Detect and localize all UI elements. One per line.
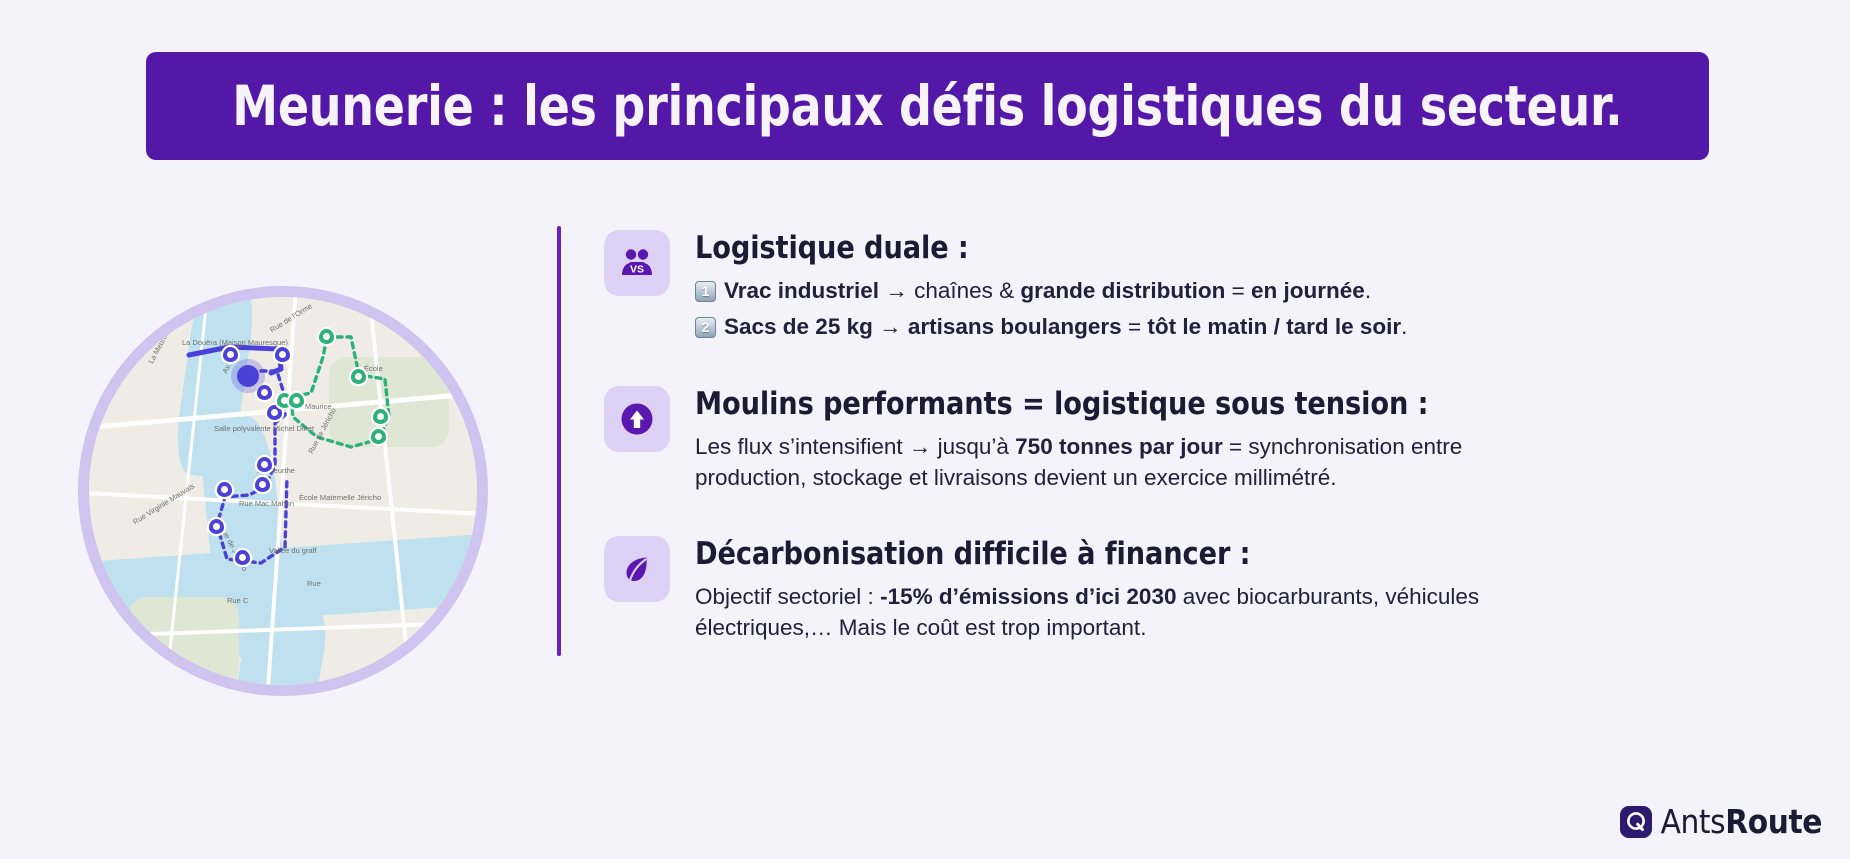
- title-banner: Meunerie : les principaux défis logistiq…: [146, 52, 1709, 160]
- section-paragraph: Objectif sectoriel : -15% d’émissions d’…: [695, 581, 1575, 644]
- map-pin-center: [261, 461, 268, 468]
- antsroute-logo[interactable]: AntsRoute: [1620, 802, 1822, 841]
- svg-text:VS: VS: [630, 263, 644, 275]
- map-pin-blue[interactable]: [223, 347, 238, 362]
- map-pin-center: [355, 373, 362, 380]
- logo-name-light: Ants: [1661, 802, 1726, 841]
- section-body: Logistique duale : 1Vrac industriel → ch…: [695, 228, 1704, 343]
- section-title: Logistique duale :: [695, 230, 1664, 266]
- map-pin-center: [261, 389, 268, 396]
- map-pin-center: [271, 409, 278, 416]
- leaf-icon: [604, 536, 670, 602]
- map-pin-center: [239, 554, 246, 561]
- plain-text: =: [1122, 314, 1148, 339]
- map-label: École: [364, 365, 383, 374]
- plain-text: Objectif sectoriel :: [695, 584, 880, 609]
- versus-people-icon: VS: [604, 230, 670, 296]
- section-logistique-duale: VS Logistique duale : 1Vrac industriel →…: [604, 228, 1704, 343]
- map-ring: La Douëra (Maison Mauresque)Rue de l'Orm…: [78, 286, 488, 696]
- bullet-text: Sacs de 25 kg → artisans boulangers = tô…: [724, 311, 1407, 342]
- emphasis-text: tôt le matin / tard le soir: [1147, 314, 1401, 339]
- map-label: Rue C: [227, 597, 248, 606]
- section-paragraph: Les flux s’intensifient → jusqu’à 750 to…: [695, 431, 1575, 494]
- map-label: Rue: [307, 580, 321, 589]
- emphasis-text: -15% d’émissions d’ici 2030: [880, 584, 1176, 609]
- map-illustration: La Douëra (Maison Mauresque)Rue de l'Orm…: [78, 286, 488, 696]
- plain-text: .: [1401, 314, 1407, 339]
- section-title: Décarbonisation difficile à financer :: [695, 536, 1664, 572]
- map-pin-center: [375, 433, 382, 440]
- section-decarbonisation: Décarbonisation difficile à financer : O…: [604, 534, 1704, 644]
- map-pin-center: [281, 397, 288, 404]
- logo-name-bold: Route: [1725, 802, 1822, 841]
- emphasis-text: grande distribution: [1020, 278, 1225, 303]
- plain-text: Les flux s’intensifient → jusqu’à: [695, 434, 1015, 459]
- map-pin-green[interactable]: [319, 329, 334, 344]
- plain-text: .: [1365, 278, 1371, 303]
- map-pin-green[interactable]: [289, 393, 304, 408]
- section-moulins-performants: Moulins performants = logistique sous te…: [604, 384, 1704, 494]
- section-title: Moulins performants = logistique sous te…: [695, 386, 1664, 422]
- content-sections: VS Logistique duale : 1Vrac industriel →…: [604, 228, 1704, 644]
- map-pin-green[interactable]: [351, 369, 366, 384]
- emphasis-text: Sacs de 25 kg: [724, 314, 879, 339]
- emphasis-text: 750 tonnes par jour: [1015, 434, 1223, 459]
- map-pin-center: [293, 397, 300, 404]
- map-pin-blue[interactable]: [217, 482, 232, 497]
- keycap-number-icon: 2: [695, 317, 716, 338]
- section-bullet-line: 2Sacs de 25 kg → artisans boulangers = t…: [695, 311, 1704, 342]
- map-pin-center: [213, 523, 220, 530]
- map-depot-marker[interactable]: [237, 365, 259, 387]
- plain-text: → chaînes &: [885, 278, 1020, 303]
- arrow-up-circle-icon: [604, 386, 670, 452]
- antsroute-logo-icon: [1620, 806, 1652, 838]
- map-pin-blue[interactable]: [255, 477, 270, 492]
- map-label: Vallée du graff: [269, 547, 317, 556]
- map-pin-center: [279, 351, 286, 358]
- map-label: Rue Mac Mahon: [239, 500, 294, 509]
- map-pin-blue[interactable]: [235, 550, 250, 565]
- antsroute-logo-text: AntsRoute: [1661, 802, 1822, 841]
- map-pin-green[interactable]: [371, 429, 386, 444]
- map-pin-center: [377, 413, 384, 420]
- map-label: Salle polyvalente Michel Dinet: [214, 425, 314, 434]
- map-canvas: La Douëra (Maison Mauresque)Rue de l'Orm…: [89, 297, 477, 685]
- page-title: Meunerie : les principaux défis logistiq…: [232, 74, 1622, 138]
- section-body: Décarbonisation difficile à financer : O…: [695, 534, 1704, 644]
- map-pin-center: [259, 481, 266, 488]
- emphasis-text: Vrac industriel: [724, 278, 885, 303]
- keycap-number-icon: 1: [695, 281, 716, 302]
- map-pin-blue[interactable]: [209, 519, 224, 534]
- map-pin-green[interactable]: [373, 409, 388, 424]
- map-label: École Maternelle Jéricho: [299, 494, 381, 503]
- bullet-text: Vrac industriel → chaînes & grande distr…: [724, 275, 1371, 306]
- plain-text: →: [879, 314, 908, 339]
- emphasis-text: artisans boulangers: [908, 314, 1122, 339]
- map-pin-center: [323, 333, 330, 340]
- map-pin-blue[interactable]: [257, 457, 272, 472]
- map-pin-blue[interactable]: [267, 405, 282, 420]
- section-bullet-line: 1Vrac industriel → chaînes & grande dist…: [695, 275, 1704, 306]
- section-body: Moulins performants = logistique sous te…: [695, 384, 1704, 494]
- map-pin-center: [227, 351, 234, 358]
- map-pin-blue[interactable]: [275, 347, 290, 362]
- section-bullet-list: 1Vrac industriel → chaînes & grande dist…: [695, 275, 1704, 343]
- map-pin-center: [221, 486, 228, 493]
- plain-text: =: [1225, 278, 1251, 303]
- vertical-divider: [557, 226, 561, 656]
- emphasis-text: en journée: [1251, 278, 1365, 303]
- map-pin-blue[interactable]: [257, 385, 272, 400]
